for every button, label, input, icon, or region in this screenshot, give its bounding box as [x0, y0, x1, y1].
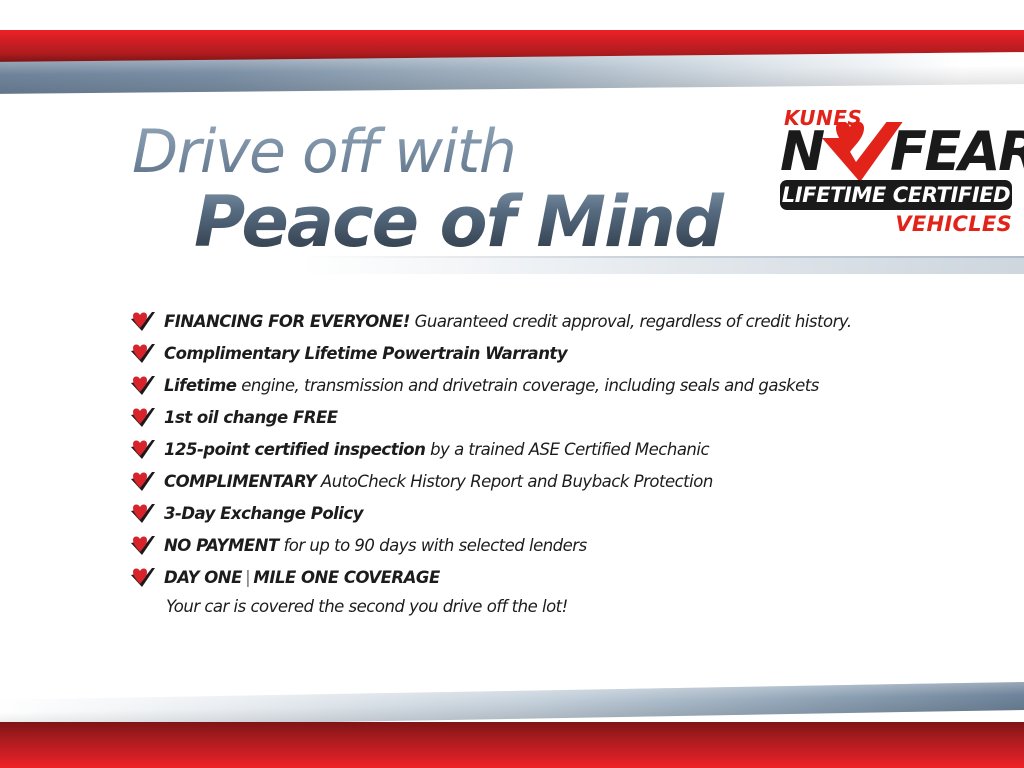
list-item-rest: by a trained ASE Certified Mechanic — [425, 440, 709, 459]
list-item-text: 125-point certified inspection by a trai… — [164, 440, 709, 459]
list-item: Complimentary Lifetime Powertrain Warran… — [130, 338, 950, 370]
list-item-rest: engine, transmission and drivetrain cove… — [236, 376, 818, 395]
list-item-strong: Lifetime — [164, 376, 236, 395]
benefits-list: FINANCING FOR EVERYONE! Guaranteed credi… — [130, 306, 950, 620]
list-item: DAY ONE|MILE ONE COVERAGE Your car is co… — [130, 562, 950, 620]
headline-line-1: Drive off with — [132, 122, 772, 182]
list-item-rest: AutoCheck History Report and Buyback Pro… — [316, 472, 713, 491]
list-item-rest: Guaranteed credit approval, regardless o… — [410, 312, 852, 331]
heart-check-bullet-icon — [130, 504, 155, 524]
list-item-strong: Complimentary Lifetime Powertrain Warran… — [164, 344, 567, 363]
logo-no-fear-wordmark: N FEAR — [778, 126, 1016, 178]
headline: Drive off with Peace of Mind — [132, 122, 772, 260]
list-item-strong: NO PAYMENT — [164, 536, 279, 555]
heart-check-bullet-icon — [130, 440, 155, 460]
list-item-text: COMPLIMENTARY AutoCheck History Report a… — [164, 472, 713, 491]
list-item-strong: COMPLIMENTARY — [164, 472, 316, 491]
list-item-text: FINANCING FOR EVERYONE! Guaranteed credi… — [164, 312, 852, 331]
list-item-separator: | — [242, 568, 254, 587]
logo-lifetime-certified-bar: LIFETIME CERTIFIED — [780, 180, 1012, 210]
list-item-subtext: Your car is covered the second you drive… — [164, 594, 950, 620]
heart-check-bullet-icon — [130, 472, 155, 492]
list-item: COMPLIMENTARY AutoCheck History Report a… — [130, 466, 950, 498]
list-item: Lifetime engine, transmission and drivet… — [130, 370, 950, 402]
list-item-strong: DAY ONE — [164, 568, 242, 587]
list-item-rest: for up to 90 days with selected lenders — [279, 536, 587, 555]
list-item-text: Complimentary Lifetime Powertrain Warran… — [164, 344, 567, 363]
list-item-text: 3-Day Exchange Policy — [164, 504, 363, 523]
headline-divider-band — [300, 258, 1024, 274]
kunes-no-fear-logo: KUNES N FEAR LIFETIME CERTIFIED VEHICLES — [778, 108, 1016, 248]
list-item: 125-point certified inspection by a trai… — [130, 434, 950, 466]
heart-check-bullet-icon — [130, 312, 155, 332]
logo-lifetime-certified-text: LIFETIME CERTIFIED — [782, 185, 1010, 206]
logo-word-fear: FEAR — [890, 126, 1024, 178]
list-item-strong: 3-Day Exchange Policy — [164, 504, 363, 523]
list-item: NO PAYMENT for up to 90 days with select… — [130, 530, 950, 562]
list-item: 3-Day Exchange Policy — [130, 498, 950, 530]
list-item-text: NO PAYMENT for up to 90 days with select… — [164, 536, 587, 555]
list-item-strong-2: MILE ONE COVERAGE — [253, 568, 439, 587]
heart-check-bullet-icon — [130, 344, 155, 364]
promotional-poster: Drive off with Peace of Mind KUNES N FEA… — [0, 0, 1024, 768]
list-item-strong: FINANCING FOR EVERYONE! — [164, 312, 410, 331]
list-item-text: 1st oil change FREE — [164, 408, 338, 427]
list-item: 1st oil change FREE — [130, 402, 950, 434]
heart-check-bullet-icon — [130, 536, 155, 556]
heart-check-bullet-icon — [130, 568, 155, 588]
list-item-text: DAY ONE|MILE ONE COVERAGE — [164, 568, 440, 587]
logo-word-vehicles: VEHICLES — [895, 214, 1012, 235]
heart-check-bullet-icon — [130, 408, 155, 428]
heart-check-bullet-icon — [130, 376, 155, 396]
list-item-text: Lifetime engine, transmission and drivet… — [164, 376, 819, 395]
list-item-strong: 125-point certified inspection — [164, 440, 425, 459]
headline-line-2: Peace of Mind — [194, 184, 772, 260]
bottom-red-band — [0, 722, 1024, 768]
list-item-strong: 1st oil change FREE — [164, 408, 338, 427]
list-item: FINANCING FOR EVERYONE! Guaranteed credi… — [130, 306, 950, 338]
